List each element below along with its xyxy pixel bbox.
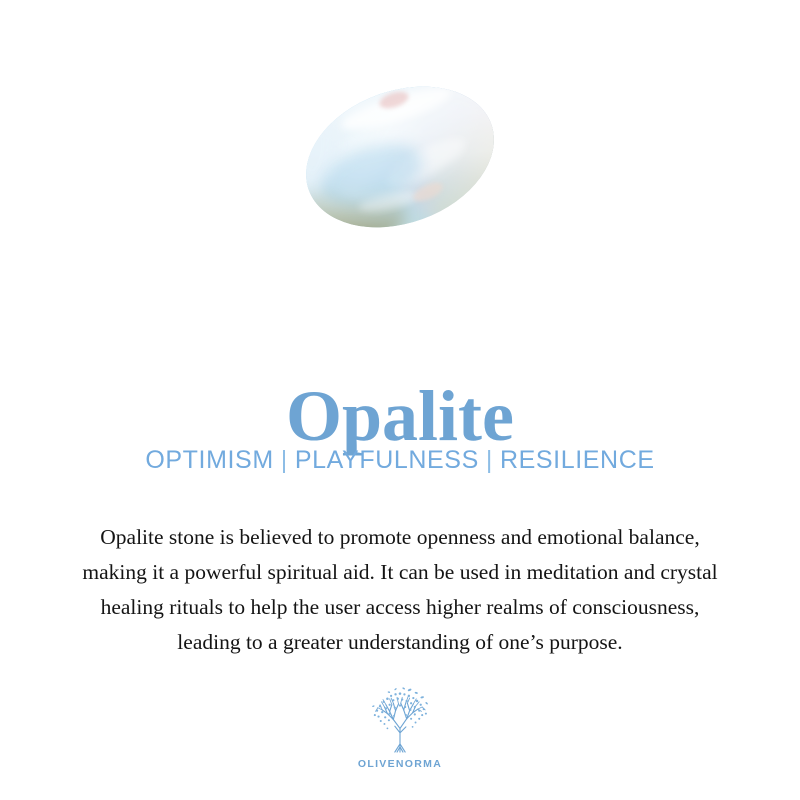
- tree-icon: [363, 684, 437, 758]
- description-line: healing rituals to help the user access …: [0, 590, 800, 625]
- description-line: leading to a greater understanding of on…: [0, 625, 800, 660]
- product-image-area: [0, 0, 800, 300]
- description-line: Opalite stone is believed to promote ope…: [0, 520, 800, 555]
- brand-name: OLIVENORMA: [358, 759, 442, 770]
- attribute-resilience: RESILIENCE: [500, 446, 655, 474]
- description-line: making it a powerful spiritual aid. It c…: [0, 555, 800, 590]
- attribute-list: OPTIMISM|PLAYFULNESS|RESILIENCE: [0, 445, 800, 475]
- description-text: Opalite stone is believed to promote ope…: [0, 520, 800, 660]
- attribute-separator: |: [274, 446, 295, 474]
- opalite-stone-image: [276, 62, 524, 252]
- product-card: Opalite OPTIMISM|PLAYFULNESS|RESILIENCE …: [0, 0, 800, 800]
- attribute-optimism: OPTIMISM: [145, 446, 273, 474]
- attribute-separator: |: [479, 446, 500, 474]
- brand-logo: OLIVENORMA: [0, 684, 800, 770]
- page-title: Opalite: [0, 380, 800, 452]
- attribute-playfulness: PLAYFULNESS: [295, 446, 479, 474]
